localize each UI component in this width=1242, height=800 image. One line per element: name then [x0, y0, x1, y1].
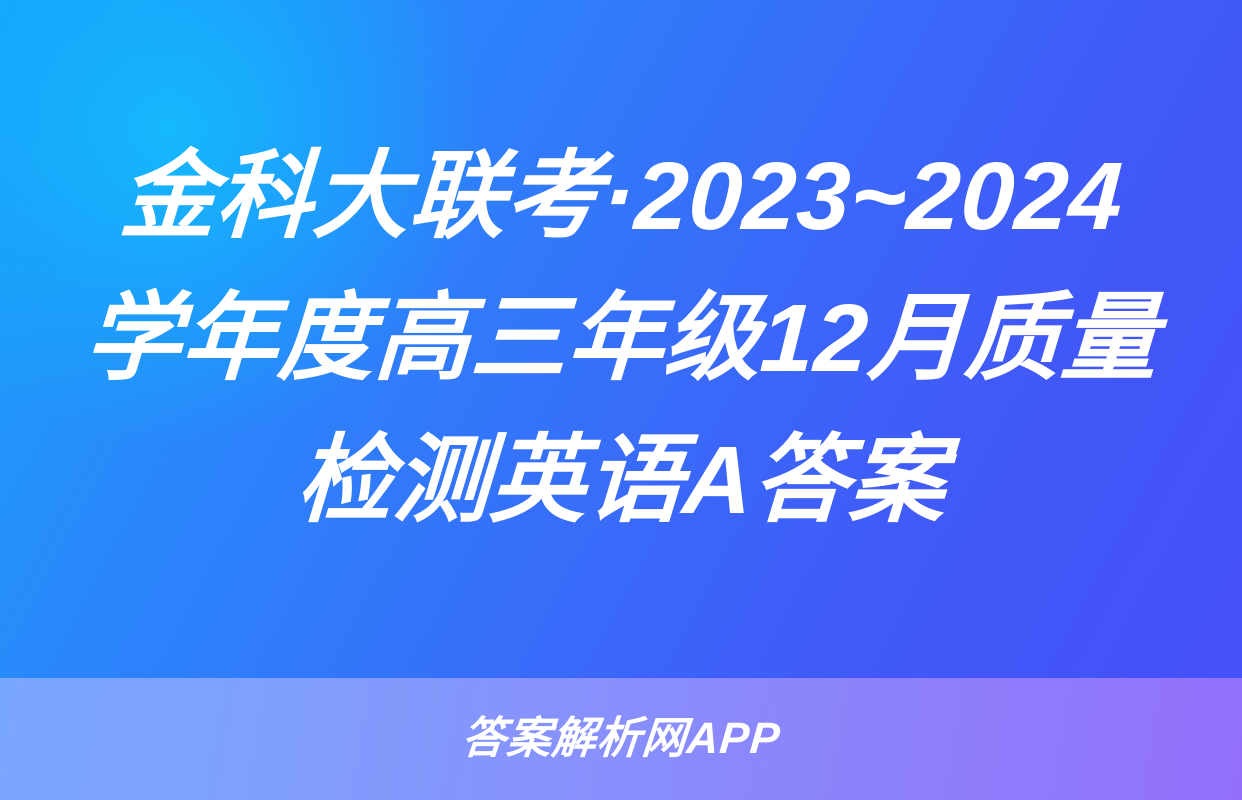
watermark-label: 答案解析网APP [460, 715, 783, 763]
poster-screenshot: 金科大联考·2023~2024 学年度高三年级12月质量 检测英语A答案 答案解… [0, 0, 1242, 800]
title-line-2: 学年度高三年级12月质量 [81, 268, 1161, 410]
title-block: 金科大联考·2023~2024 学年度高三年级12月质量 检测英语A答案 [0, 0, 1242, 678]
footer-watermark-band: 答案解析网APP [0, 678, 1242, 800]
title-line-1: 金科大联考·2023~2024 [116, 126, 1126, 268]
title-line-3: 检测英语A答案 [293, 410, 949, 552]
